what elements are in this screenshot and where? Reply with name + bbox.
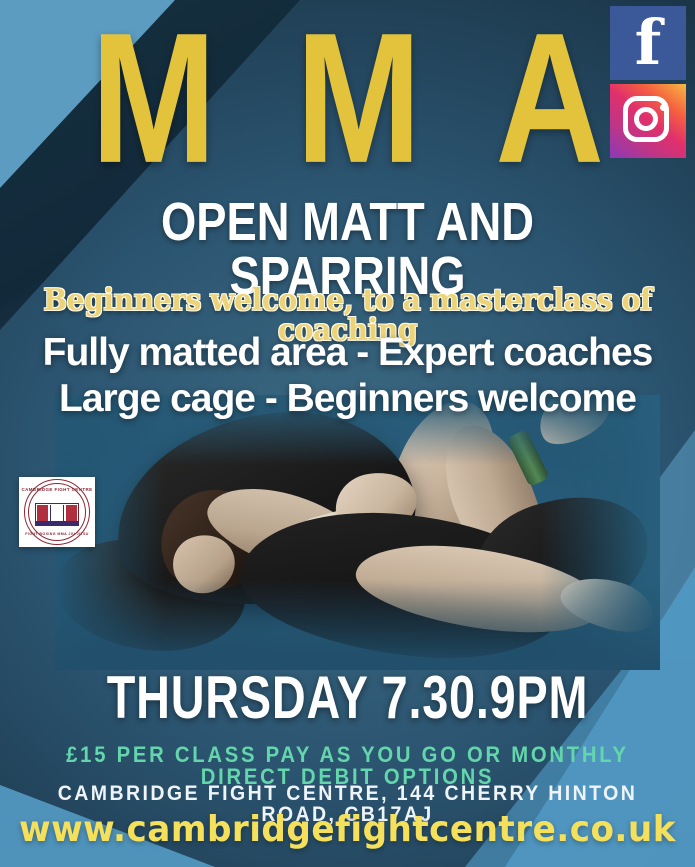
benefit-line: Fully matted area - Expert coaches — [0, 330, 695, 376]
instagram-lens-shape — [634, 107, 658, 131]
logo-emblem — [35, 503, 79, 523]
logo-ring-text-top: CAMBRIDGE FIGHT CENTRE — [19, 487, 95, 492]
mma-flyer: f M M A OPEN MATT AND SPARRING Beginners… — [0, 0, 695, 867]
grappling-photo — [55, 395, 660, 670]
social-media-links: f — [610, 6, 686, 162]
logo-emblem-bar — [35, 521, 79, 526]
logo-ring-text-bottom: FIGHT BOXING MMA JIU JITSU — [19, 532, 95, 536]
instagram-dot-shape — [660, 104, 667, 111]
website-url[interactable]: www.cambridgefightcentre.co.uk — [17, 812, 677, 848]
benefits-list: Fully matted area - Expert coaches Large… — [0, 330, 695, 421]
instagram-icon[interactable] — [610, 84, 686, 158]
facebook-icon[interactable]: f — [610, 6, 686, 80]
cambridge-fight-centre-logo: CAMBRIDGE FIGHT CENTRE FIGHT BOXING MMA … — [19, 477, 95, 547]
facebook-f-glyph: f — [610, 12, 686, 74]
benefit-line: Large cage - Beginners welcome — [0, 376, 695, 422]
logo-emblem-cell — [66, 505, 77, 521]
logo-emblem-cell — [37, 505, 48, 521]
photo-fade-bottom — [55, 580, 660, 670]
logo-emblem-cell — [50, 505, 63, 521]
page-title: M M A — [49, 6, 647, 191]
schedule-text: THURSDAY 7.30.9PM — [76, 668, 618, 728]
